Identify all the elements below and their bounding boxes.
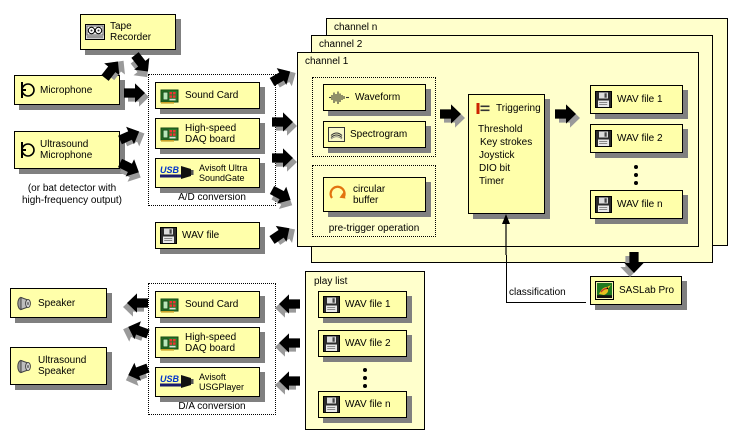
node-speaker[interactable]: Speaker	[10, 288, 107, 318]
node-waveform-label: Waveform	[355, 92, 400, 103]
floppy-disk-icon	[323, 296, 340, 313]
node-wav-file-input[interactable]: WAV file	[155, 222, 260, 249]
diagram-canvas: channel n channel 2 channel 1 Tape Recor…	[0, 0, 737, 442]
node-microphone[interactable]: Microphone	[14, 75, 120, 105]
arrow-da-usgplayer-to-ultrasound-speaker	[123, 359, 152, 389]
node-ultrasound-speaker[interactable]: Ultrasound Speaker	[10, 347, 107, 385]
node-da-daq-board-label: High-speed DAQ board	[185, 332, 236, 354]
arrow-da-daq-to-ultrasound-speaker	[120, 318, 151, 346]
spectrogram-icon	[328, 127, 345, 142]
wav-outputs-ellipsis	[633, 165, 638, 189]
trigger-mode-joystick[interactable]: Joystick	[475, 150, 515, 161]
node-ad-ultrasoundgate[interactable]: USB Avisoft Ultra SoundGate	[155, 158, 260, 188]
arrow-microphone-to-sound-card	[124, 83, 149, 106]
svg-text:USB: USB	[160, 165, 180, 175]
classification-connector-horizontal	[506, 302, 586, 303]
arrow-playlist-to-da-usgplayer	[275, 371, 300, 394]
trigger-threshold-icon	[475, 102, 491, 115]
node-ultrasound-microphone-label: Ultrasound Microphone	[40, 139, 92, 161]
node-speaker-label: Speaker	[38, 298, 75, 309]
floppy-disk-icon	[160, 227, 177, 244]
microphone-icon	[19, 81, 35, 99]
trigger-mode-key-strokes[interactable]: Key strokes	[475, 137, 532, 148]
floppy-disk-icon	[595, 91, 612, 108]
play-list-title: play list	[314, 276, 347, 287]
node-playlist-wav-1[interactable]: WAV file 1	[318, 291, 407, 318]
node-wav-out-n[interactable]: WAV file n	[590, 190, 683, 219]
arrow-ultrasound-mic-to-usg	[116, 154, 145, 186]
node-triggering[interactable]: Triggering Threshold Key strokes Joystic…	[468, 94, 545, 214]
node-playlist-wav-2-label: WAV file 2	[345, 338, 391, 349]
arrow-playlist-to-da-daq	[275, 333, 300, 356]
node-da-sound-card-label: Sound Card	[185, 299, 238, 310]
circular-arrow-icon	[328, 185, 348, 205]
channel-panel-2-title: channel 2	[319, 39, 362, 50]
node-da-usgplayer-label: Avisoft USGPlayer	[199, 372, 244, 392]
node-tape-recorder[interactable]: Tape Recorder	[80, 14, 176, 50]
node-ad-sound-card-label: Sound Card	[185, 90, 238, 101]
arrow-playlist-to-da-sound-card	[275, 294, 300, 317]
saslab-bird-icon	[595, 281, 614, 300]
classification-label: classification	[509, 287, 585, 299]
channel-panel-1-title: channel 1	[305, 56, 348, 67]
speaker-icon	[15, 295, 33, 312]
tape-recorder-icon	[85, 24, 105, 40]
node-da-sound-card[interactable]: Sound Card	[155, 291, 260, 318]
node-circular-buffer[interactable]: circular buffer	[323, 177, 426, 212]
waveform-icon	[328, 91, 350, 105]
node-saslab-pro-label: SASLab Pro	[619, 285, 674, 296]
usb-device-icon: USB	[160, 373, 194, 391]
node-wav-out-2[interactable]: WAV file 2	[590, 124, 683, 153]
node-ultrasound-microphone[interactable]: Ultrasound Microphone	[14, 131, 120, 169]
node-waveform[interactable]: Waveform	[323, 84, 426, 111]
floppy-disk-icon	[323, 396, 340, 413]
arrow-ultrasound-mic-to-daq	[116, 123, 148, 151]
trigger-mode-threshold[interactable]: Threshold	[475, 124, 522, 135]
speaker-icon	[15, 358, 33, 375]
sound-card-icon	[160, 87, 180, 104]
arrow-da-sound-card-to-speaker	[123, 293, 148, 316]
floppy-disk-icon	[595, 130, 612, 147]
node-wav-out-1-label: WAV file 1	[617, 94, 663, 105]
sound-card-icon	[160, 125, 180, 142]
node-circular-buffer-label: circular buffer	[353, 184, 385, 206]
floppy-disk-icon	[595, 196, 612, 213]
sound-card-icon	[160, 296, 180, 313]
node-ad-daq-board-label: High-speed DAQ board	[185, 123, 236, 145]
node-ultrasound-speaker-label: Ultrasound Speaker	[38, 355, 86, 377]
node-triggering-title: Triggering	[496, 103, 541, 114]
usb-device-icon: USB	[160, 164, 194, 182]
node-saslab-pro[interactable]: SASLab Pro	[590, 276, 682, 305]
node-wav-out-n-label: WAV file n	[617, 199, 663, 210]
node-da-usgplayer[interactable]: USB Avisoft USGPlayer	[155, 367, 260, 397]
node-wav-out-1[interactable]: WAV file 1	[590, 85, 683, 114]
node-tape-recorder-label: Tape Recorder	[110, 21, 151, 43]
node-microphone-label: Microphone	[40, 85, 92, 96]
floppy-disk-icon	[323, 335, 340, 352]
node-wav-out-2-label: WAV file 2	[617, 133, 663, 144]
trigger-mode-dio-bit[interactable]: DIO bit	[475, 163, 510, 174]
ad-conversion-group-label: A/D conversion	[148, 192, 276, 203]
node-playlist-wav-n-label: WAV file n	[345, 399, 391, 410]
node-da-daq-board[interactable]: High-speed DAQ board	[155, 327, 260, 358]
classification-connector-vertical	[506, 255, 507, 303]
node-spectrogram-label: Spectrogram	[350, 129, 407, 140]
play-list-ellipsis	[362, 368, 367, 392]
arrow-wav-input-to-channel	[267, 220, 301, 249]
bat-detector-note: (or bat detector with high-frequency out…	[2, 183, 142, 207]
sound-card-icon	[160, 334, 180, 351]
node-ad-sound-card[interactable]: Sound Card	[155, 82, 260, 109]
node-playlist-wav-n[interactable]: WAV file n	[318, 391, 407, 418]
da-conversion-group-label: D/A conversion	[148, 401, 276, 412]
node-ad-daq-board[interactable]: High-speed DAQ board	[155, 118, 260, 149]
channel-panel-n-title: channel n	[334, 22, 377, 33]
trigger-mode-timer[interactable]: Timer	[475, 176, 504, 187]
svg-text:USB: USB	[160, 374, 180, 384]
node-playlist-wav-2[interactable]: WAV file 2	[318, 330, 407, 357]
node-ad-ultrasoundgate-label: Avisoft Ultra SoundGate	[199, 163, 247, 183]
node-wav-file-input-label: WAV file	[182, 230, 219, 241]
pretrigger-group-label: pre-trigger operation	[312, 223, 436, 234]
node-playlist-wav-1-label: WAV file 1	[345, 299, 391, 310]
node-spectrogram[interactable]: Spectrogram	[323, 121, 426, 148]
microphone-icon	[19, 141, 35, 159]
